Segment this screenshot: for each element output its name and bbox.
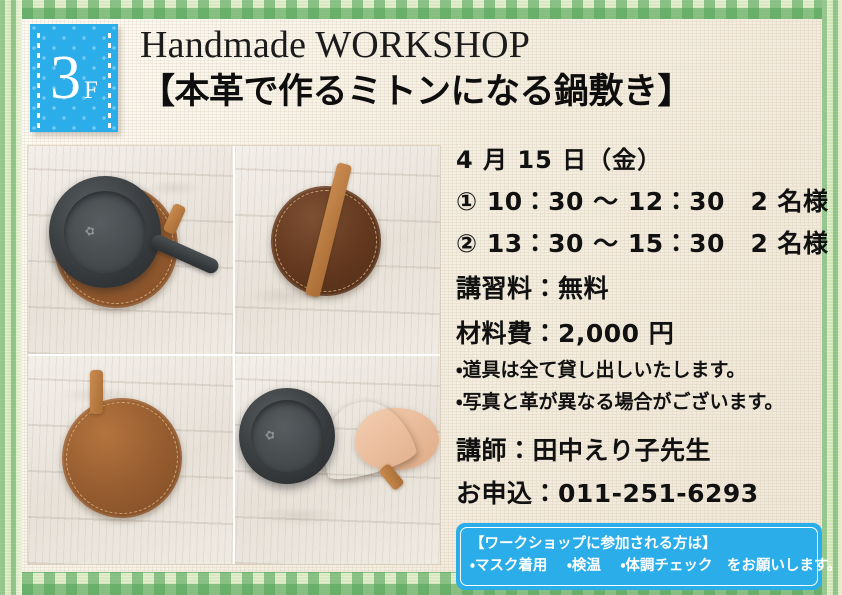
cast-iron-skillet: ✿ [49,176,161,288]
floor-badge: 3 F [30,24,118,132]
wood-grain-knot [146,180,202,196]
floor-number: 3 [50,47,80,109]
photo-trivet-with-tab [28,356,233,564]
covid-notice-inner: 【ワークショップに参加される方は】 ・マスク着用 ・検温 ・体調チェック をお願… [460,527,818,586]
leather-trivet [62,398,182,518]
leather-hanging-tab [162,203,186,236]
wood-grain-knot [255,506,341,526]
note-leather-variation: ・写真と革が異なる場合がございます。 [456,387,828,414]
folded-leather-mitt [311,391,419,486]
note-tools: ・道具は全て貸し出しいたします。 [456,355,828,382]
covid-notice-box: 【ワークショップに参加される方は】 ・マスク着用 ・検温 ・体調チェック をお願… [456,523,822,590]
spacer [456,414,828,424]
event-details: 4 月 15 日（金） ① 10：30 ～ 12：30 2 名様 ② 13：30… [456,140,828,595]
skillet-inner-surface [64,191,147,274]
border-frame-top [0,0,842,19]
leather-hanging-tab [90,370,103,414]
photo-hand-holding-mitt: ✿ [235,356,440,564]
photo-grid: ✿ ✿ [28,146,440,564]
poster-header: 3 F Handmade WORKSHOP 【本革で作るミトンになる鍋敷き】 [30,24,820,140]
event-date: 4 月 15 日（金） [456,140,828,175]
photo-skillet-on-trivet: ✿ [28,146,233,354]
material-fee: 材料費：2,000 円 [456,314,828,350]
application-phone[interactable]: お申込：011-251-6293 [456,474,828,510]
covid-notice-body: ・マスク着用 ・検温 ・体調チェック をお願いします。 [470,555,808,577]
workshop-poster: 3 F Handmade WORKSHOP 【本革で作るミトンになる鍋敷き】 ✿ [0,0,842,595]
border-frame-left [0,0,22,595]
cast-iron-pot: ✿ [239,388,335,484]
floor-badge-text: 3 F [50,47,98,109]
session-1: ① 10：30 ～ 12：30 2 名様 [456,182,828,218]
covid-notice-heading: 【ワークショップに参加される方は】 [470,533,808,555]
session-2: ② 13：30 ～ 15：30 2 名様 [456,224,828,260]
tuition-fee: 講習料：無料 [456,269,828,305]
pot-inner-surface [251,400,322,471]
page-title-japanese: 【本革で作るミトンになる鍋敷き】 [140,72,692,113]
photo-trivet-top-view [235,146,440,354]
floor-suffix: F [84,78,98,103]
title-block: Handmade WORKSHOP 【本革で作るミトンになる鍋敷き】 [140,24,692,112]
page-title-english: Handmade WORKSHOP [140,26,692,66]
instructor-name: 講師：田中えり子先生 [456,431,828,467]
